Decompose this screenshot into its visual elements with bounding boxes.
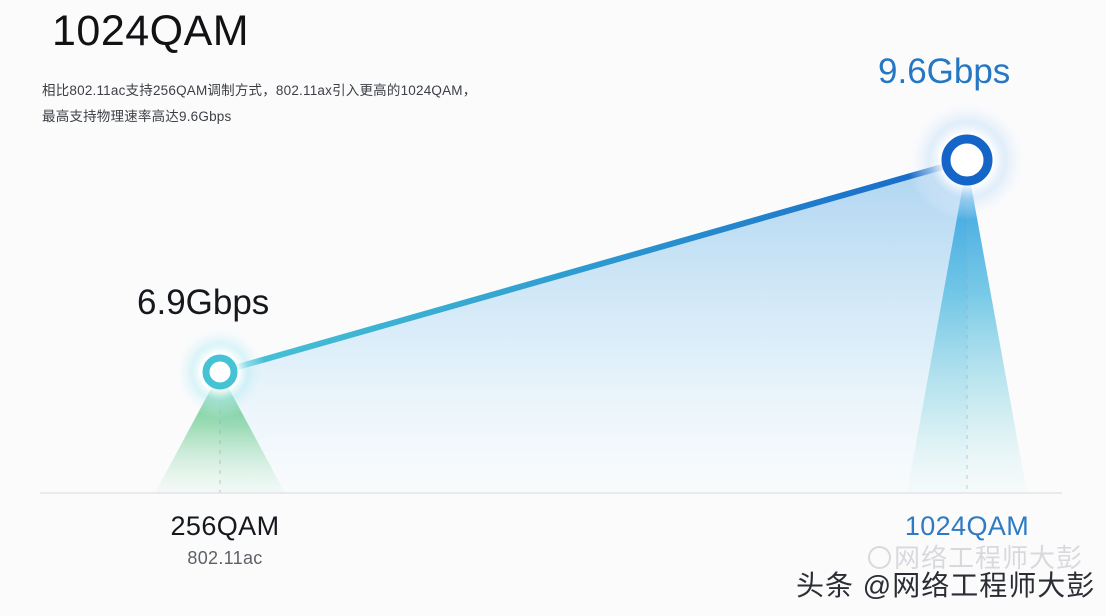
description-text: 相比802.11ac支持256QAM调制方式，802.11ax引入更高的1024… <box>42 78 662 130</box>
axis-label-group-left: 256QAM 802.11ac <box>105 509 345 573</box>
data-point-1024qam[interactable] <box>946 139 988 181</box>
slide-canvas: 1024QAM 相比802.11ac支持256QAM调制方式，802.11ax引… <box>0 0 1106 616</box>
description-line-2: 最高支持物理速率高达9.6Gbps <box>42 104 662 130</box>
axis-sublabel-80211ac: 802.11ac <box>105 543 345 573</box>
data-point-256qam[interactable] <box>206 358 234 386</box>
value-label-256qam: 6.9Gbps <box>137 283 269 323</box>
watermark-toutiao: 头条 @网络工程师大彭 <box>796 564 1095 604</box>
description-line-1: 相比802.11ac支持256QAM调制方式，802.11ax引入更高的1024… <box>42 78 662 104</box>
value-label-1024qam: 9.6Gbps <box>878 52 1010 92</box>
axis-label-group-right: 1024QAM <box>847 509 1087 543</box>
page-title: 1024QAM <box>52 8 249 55</box>
axis-label-1024qam: 1024QAM <box>847 509 1087 543</box>
area-fill <box>220 160 967 493</box>
axis-label-256qam: 256QAM <box>105 509 345 543</box>
